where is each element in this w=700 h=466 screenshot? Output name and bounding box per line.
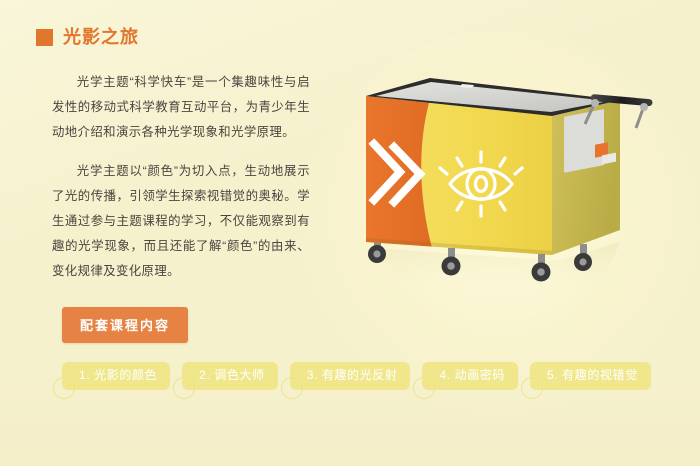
circle-outline-icon [53,377,75,399]
page-title: 光影之旅 [63,28,139,46]
course-chip-label: 2. 调色大师 [199,368,265,382]
paragraph-2: 光学主题以“颜色”为切入点，生动地展示了光的传播，引领学生探索视错觉的奥秘。学生… [52,159,310,284]
caster-wheel [442,248,461,276]
course-chip-4[interactable]: 4. 动画密码 [422,362,518,390]
course-chip-label: 4. 动画密码 [439,368,505,382]
circle-outline-icon [173,377,195,399]
page-header: 光影之旅 [36,28,139,46]
side-access-panel [564,109,604,173]
course-content-banner[interactable]: 配套课程内容 [62,307,188,343]
science-cart-illustration [352,72,672,302]
course-chip-label: 3. 有趣的光反射 [307,368,398,382]
course-chip-label: 5. 有趣的视错觉 [547,368,638,382]
orange-square-icon [36,29,53,46]
course-chip-label: 1. 光影的颜色 [79,368,157,382]
body-copy: 光学主题“科学快车”是一个集趣味性与启发性的移动式科学教育互动平台，为青少年生动… [52,70,310,298]
caster-wheel [574,244,592,271]
course-chip-1[interactable]: 1. 光影的颜色 [62,362,170,390]
paragraph-1: 光学主题“科学快车”是一个集趣味性与启发性的移动式科学教育互动平台，为青少年生动… [52,70,310,145]
course-chip-list: 1. 光影的颜色 2. 调色大师 3. 有趣的光反射 4. 动画密码 5. 有趣… [62,362,651,390]
caster-wheel [532,254,551,282]
circle-outline-icon [281,377,303,399]
cart-front-face [366,92,552,255]
promo-page: 光影之旅 光学主题“科学快车”是一个集趣味性与启发性的移动式科学教育互动平台，为… [0,0,700,466]
course-chip-5[interactable]: 5. 有趣的视错觉 [530,362,651,390]
circle-outline-icon [413,377,435,399]
circle-outline-icon [521,377,543,399]
course-chip-3[interactable]: 3. 有趣的光反射 [290,362,411,390]
course-chip-2[interactable]: 2. 调色大师 [182,362,278,390]
